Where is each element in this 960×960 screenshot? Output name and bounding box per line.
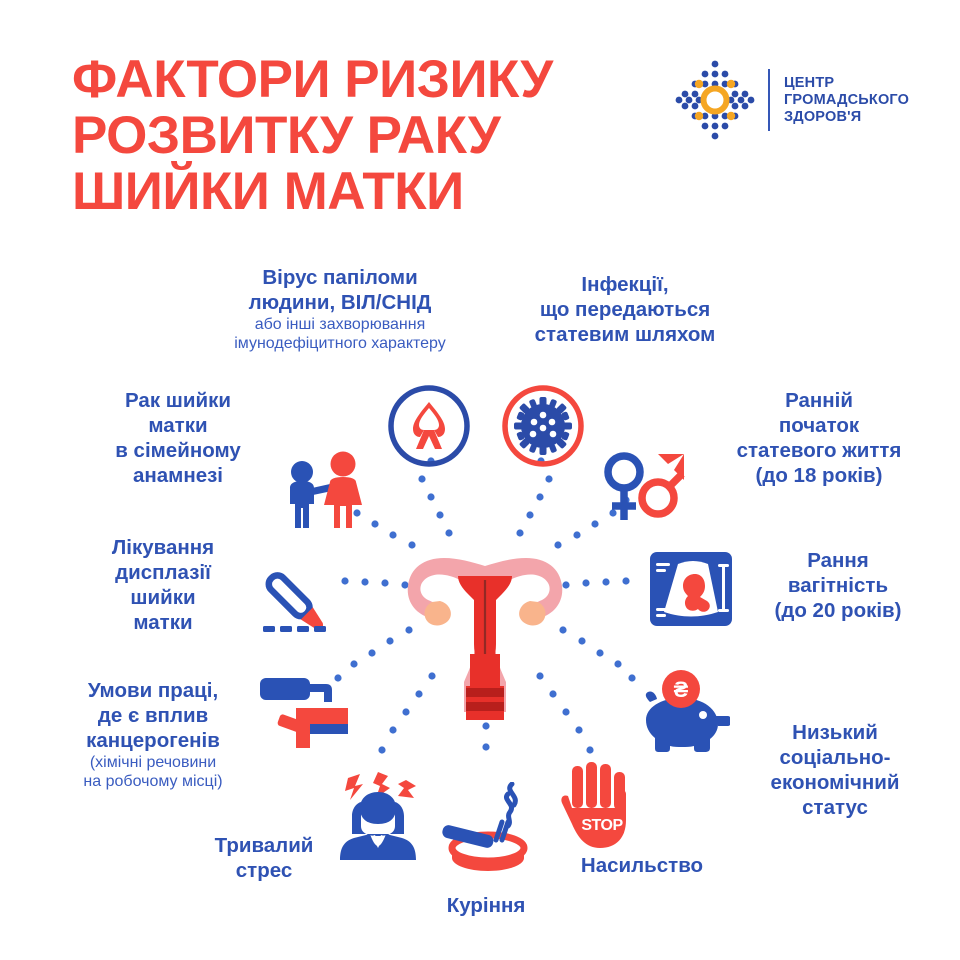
cigarette-ashtray-icon — [438, 782, 538, 879]
page-title-line-3: ШИЙКИ МАТКИ — [72, 164, 632, 220]
logo-divider — [768, 69, 770, 131]
label-line: Умови праці, — [48, 678, 258, 703]
label-line: стрес — [190, 858, 338, 883]
label-line: анамнезі — [78, 463, 278, 488]
page-title: ФАКТОРИ РИЗИКУ РОЗВИТКУ РАКУ ШИЙКИ МАТКИ — [72, 52, 632, 220]
label-low-socioeconomic-status: Низький соціально- економічний статус — [735, 720, 935, 820]
logo-text-line-3: ЗДОРОВ'Я — [784, 109, 909, 126]
label-line: (до 18 років) — [710, 463, 928, 488]
label-line: статус — [735, 795, 935, 820]
label-sub-line: імунодефіцитного характеру — [190, 334, 490, 353]
label-line: людини, ВІЛ/СНІД — [190, 290, 490, 315]
logo-mark-icon — [672, 57, 758, 143]
label-line: статевого життя — [710, 438, 928, 463]
logo-text-line-1: ЦЕНТР — [784, 75, 909, 92]
label-sti: Інфекції, що передаються статевим шляхом — [500, 272, 750, 347]
gender-symbols-icon — [600, 444, 688, 537]
page-title-line-1: ФАКТОРИ РИЗИКУ — [72, 52, 632, 108]
label-line: Низький — [735, 720, 935, 745]
label-line: дисплазії — [72, 560, 254, 585]
label-line: матки — [72, 610, 254, 635]
label-line: Куріння — [410, 893, 562, 918]
label-line: соціально- — [735, 745, 935, 770]
label-line: Рання — [748, 548, 928, 573]
label-line: початок — [710, 413, 928, 438]
label-line: в сімейному — [78, 438, 278, 463]
label-smoking: Куріння — [410, 893, 562, 918]
stressed-woman-icon — [330, 772, 426, 869]
label-sub-line: (хімічні речовини — [48, 753, 258, 772]
label-line: що передаються — [500, 297, 750, 322]
label-line: матки — [78, 413, 278, 438]
label-line: канцерогенів — [48, 728, 258, 753]
label-line: Ранній — [710, 388, 928, 413]
mother-and-child-icon — [278, 448, 374, 537]
paint-roller-icon — [252, 672, 354, 763]
label-line: де є вплив — [48, 703, 258, 728]
stop-hand-icon: STOP — [560, 762, 642, 859]
label-line: економічний — [735, 770, 935, 795]
logo-text-line-2: ГРОМАДСЬКОГО — [784, 92, 909, 109]
stop-text-glyph: STOP — [581, 817, 623, 834]
label-line: Інфекції, — [500, 272, 750, 297]
label-family-history: Рак шийки матки в сімейному анамнезі — [78, 388, 278, 488]
label-early-pregnancy: Рання вагітність (до 20 років) — [748, 548, 928, 623]
label-line: (до 20 років) — [748, 598, 928, 623]
label-dysplasia-treatment: Лікування дисплазії шийки матки — [72, 535, 254, 635]
label-line: Лікування — [72, 535, 254, 560]
infographic-page: ФАКТОРИ РИЗИКУ РОЗВИТКУ РАКУ ШИЙКИ МАТКИ — [0, 0, 960, 960]
piggy-coin-glyph: ₴ — [674, 677, 689, 702]
label-line: статевим шляхом — [500, 322, 750, 347]
page-title-line-2: РОЗВИТКУ РАКУ — [72, 108, 632, 164]
ultrasound-icon — [648, 550, 734, 633]
label-line: шийки — [72, 585, 254, 610]
public-health-center-logo: ЦЕНТР ГРОМАДСЬКОГО ЗДОРОВ'Я — [672, 56, 912, 144]
label-early-sexual-debut: Ранній початок статевого життя (до 18 ро… — [710, 388, 928, 488]
label-line: Вірус папіломи — [190, 265, 490, 290]
label-line: вагітність — [748, 573, 928, 598]
scalpel-icon — [250, 556, 346, 645]
aids-ribbon-icon — [386, 383, 472, 474]
label-sub-line: або інші захворювання — [190, 315, 490, 334]
label-line: Рак шийки — [78, 388, 278, 413]
label-hpv-hiv-aids: Вірус папіломи людини, ВІЛ/СНІД або інші… — [190, 265, 490, 353]
label-line: Тривалий — [190, 833, 338, 858]
label-carcinogen-exposure: Умови праці, де є вплив канцерогенів (хі… — [48, 678, 258, 791]
piggy-bank-icon: ₴ — [636, 668, 730, 761]
virus-icon — [500, 383, 586, 474]
label-sub-line: на робочому місці) — [48, 772, 258, 791]
logo-text: ЦЕНТР ГРОМАДСЬКОГО ЗДОРОВ'Я — [784, 75, 909, 126]
label-chronic-stress: Тривалий стрес — [190, 833, 338, 883]
uterus-illustration — [396, 536, 574, 731]
